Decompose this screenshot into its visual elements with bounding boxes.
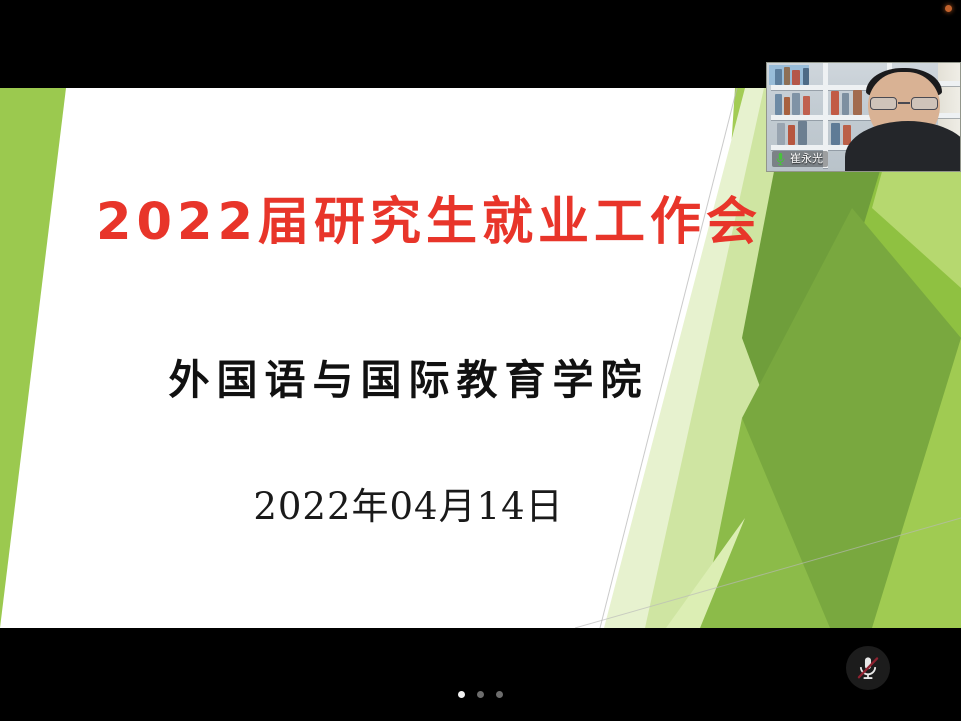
participant-name-label: 崔永光 bbox=[790, 152, 823, 166]
microphone-on-icon bbox=[775, 152, 786, 166]
book-decor bbox=[842, 93, 849, 115]
microphone-mute-button[interactable] bbox=[846, 646, 890, 690]
glasses-decor bbox=[870, 97, 938, 110]
book-decor bbox=[831, 91, 839, 115]
book-decor bbox=[803, 68, 809, 85]
participant-video-tile[interactable]: 崔永光 bbox=[766, 62, 961, 172]
book-decor bbox=[775, 94, 782, 115]
book-decor bbox=[784, 97, 790, 115]
book-decor bbox=[798, 121, 807, 145]
bottom-control-bar bbox=[0, 628, 961, 721]
book-decor bbox=[853, 90, 862, 115]
book-decor bbox=[777, 123, 785, 145]
book-decor bbox=[792, 70, 800, 85]
screen-share-view: 2022届研究生就业工作会 外国语与国际教育学院 2022年04月14日 bbox=[0, 0, 961, 721]
book-decor bbox=[803, 96, 810, 115]
book-decor bbox=[784, 67, 790, 85]
pagination-dot-3[interactable] bbox=[496, 691, 503, 698]
microphone-muted-icon bbox=[855, 655, 881, 681]
participant-name-badge: 崔永光 bbox=[772, 151, 828, 167]
book-decor bbox=[788, 125, 795, 145]
book-decor bbox=[775, 69, 782, 85]
participant-body bbox=[845, 121, 961, 172]
recording-indicator-dot bbox=[945, 5, 952, 12]
pagination-dot-2[interactable] bbox=[477, 691, 484, 698]
book-decor bbox=[792, 93, 800, 115]
book-decor bbox=[831, 123, 840, 145]
pagination-dot-1[interactable] bbox=[458, 691, 465, 698]
slide-pagination-dots[interactable] bbox=[0, 691, 961, 698]
